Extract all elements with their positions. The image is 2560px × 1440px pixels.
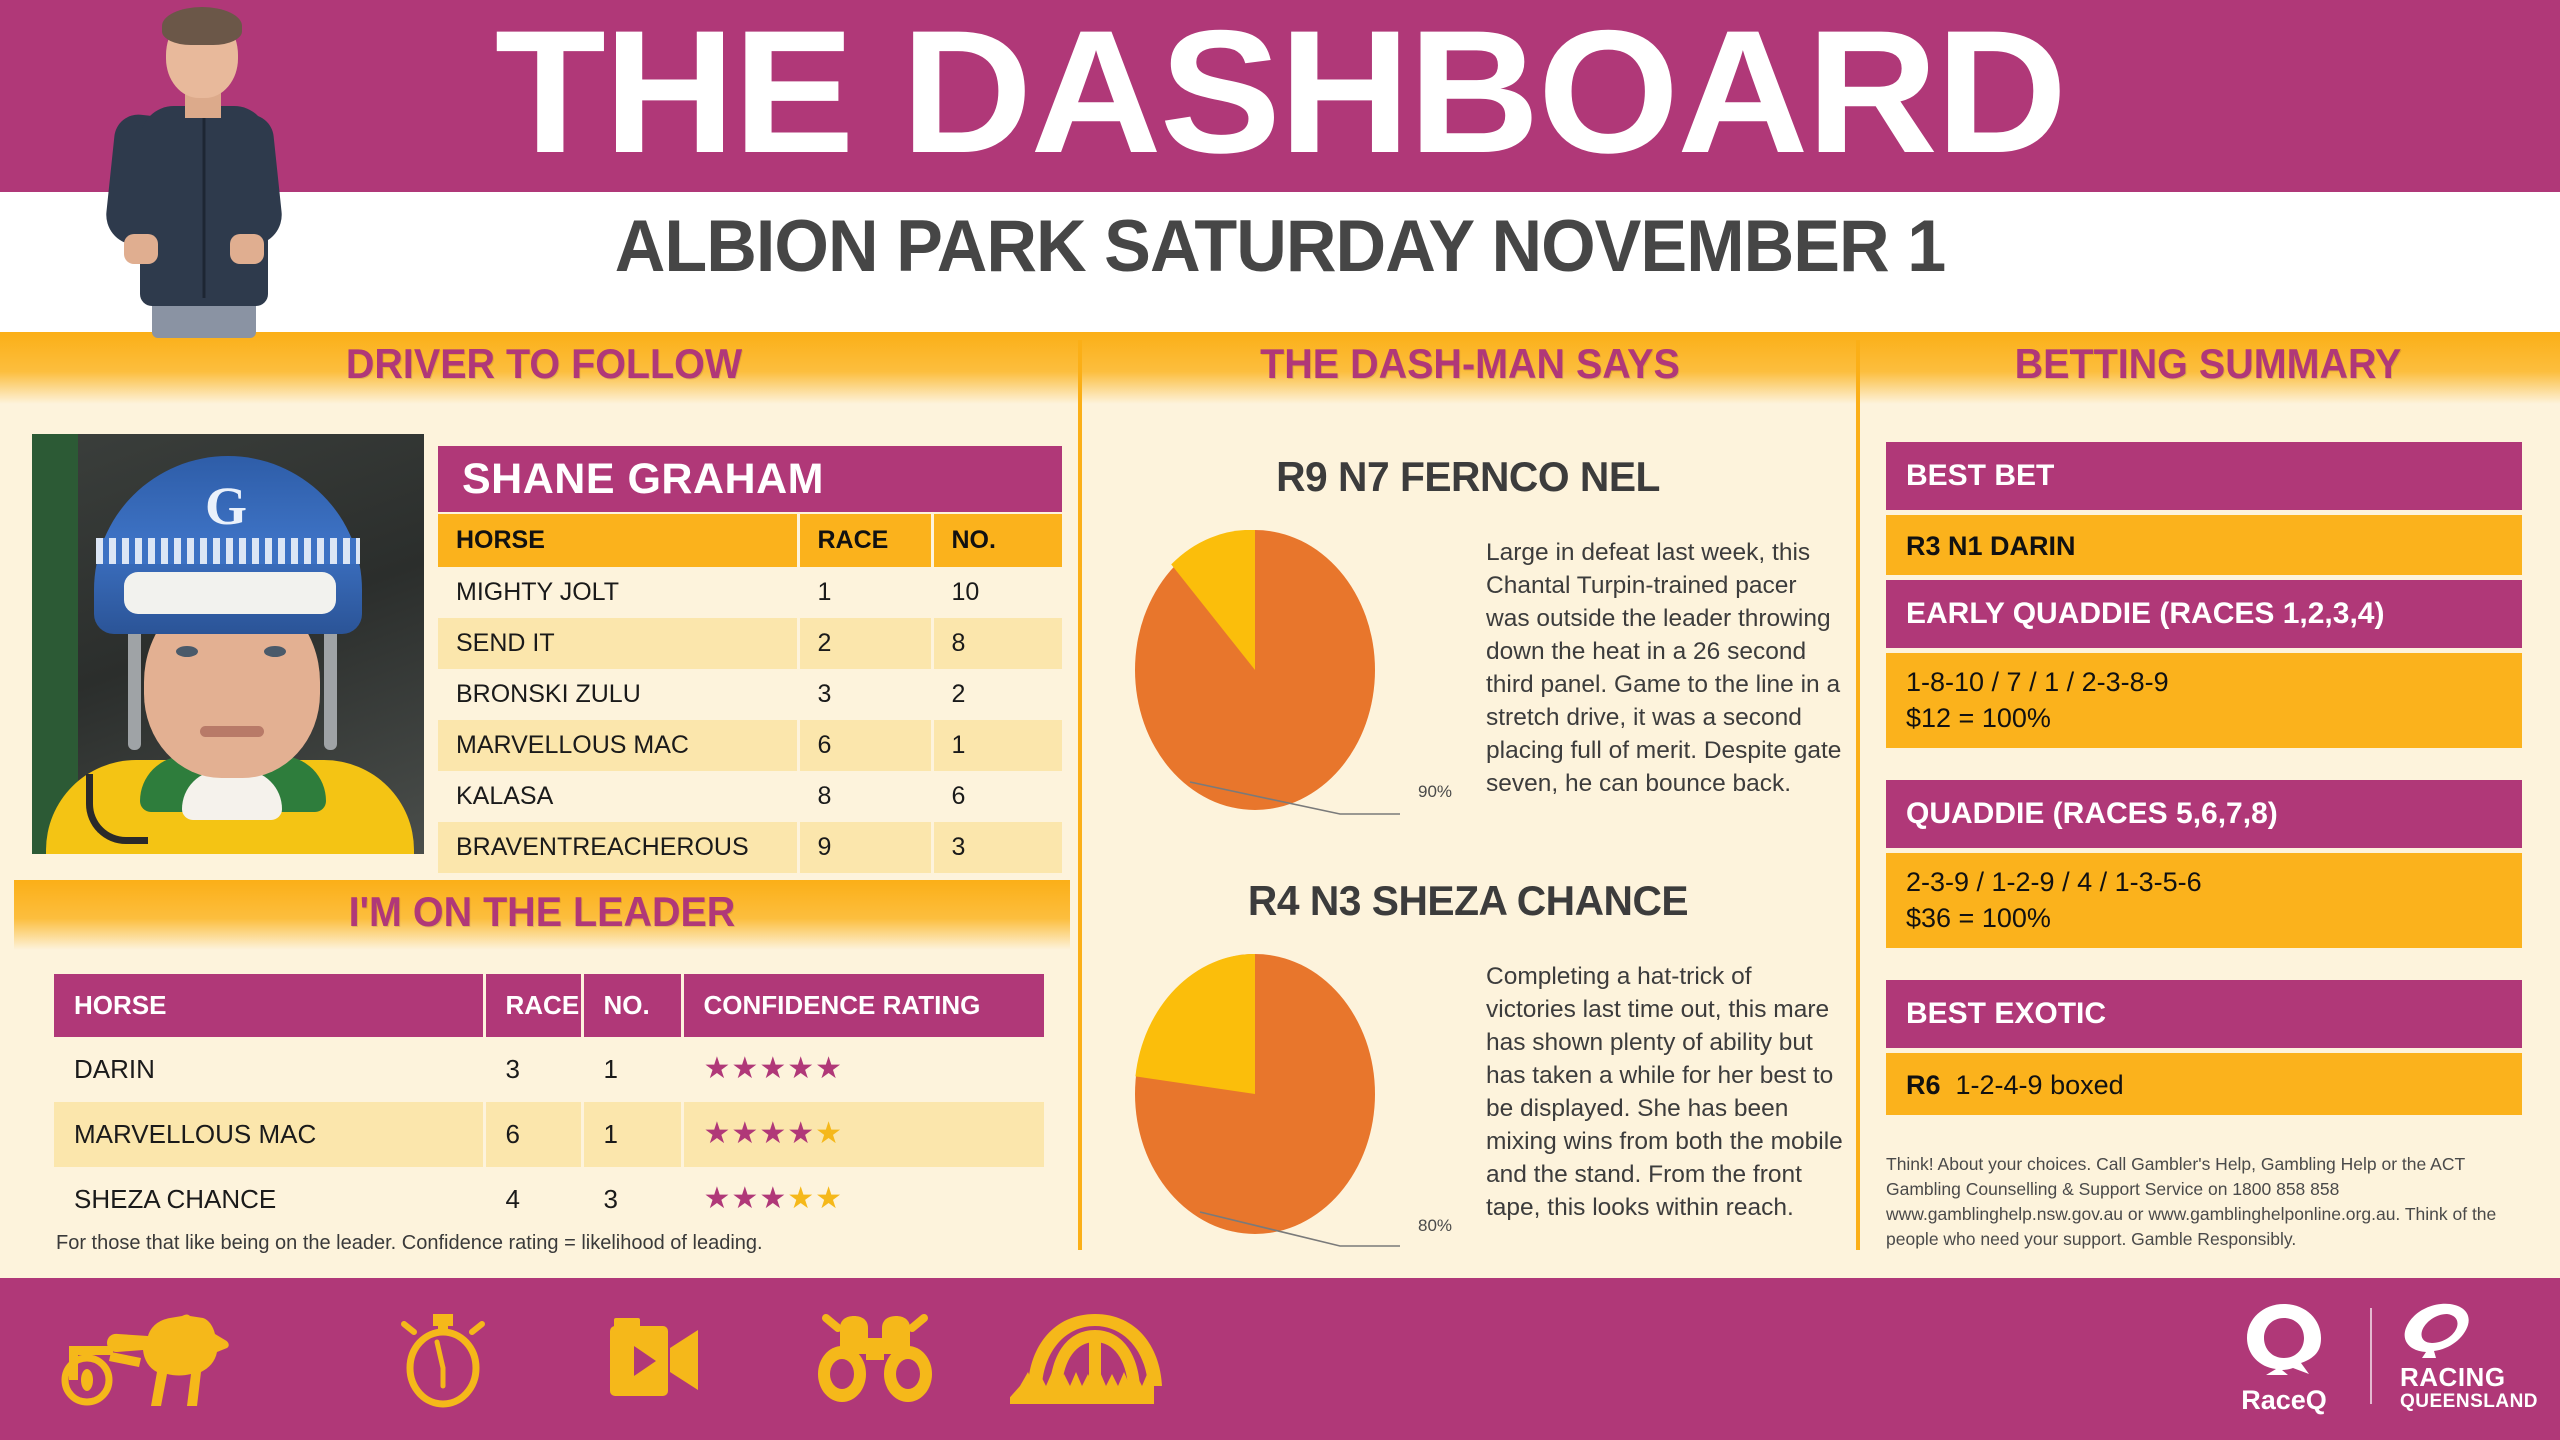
early-quaddie-value: 1-8-10 / 7 / 1 / 2-3-8-9 $12 = 100% bbox=[1886, 653, 2522, 748]
queensland-text: QUEENSLAND bbox=[2400, 1391, 2530, 1413]
early-quaddie-line2: $12 = 100% bbox=[1906, 700, 2522, 736]
cell-horse: BRAVENTREACHEROUS bbox=[438, 822, 798, 873]
column-header-race: RACE bbox=[484, 974, 582, 1037]
best-exotic-value: R6 1-2-4-9 boxed bbox=[1886, 1053, 2522, 1115]
early-quaddie-header: EARLY QUADDIE (RACES 1,2,3,4) bbox=[1886, 580, 2522, 648]
cell-race: 4 bbox=[484, 1167, 582, 1232]
best-bet-header: BEST BET bbox=[1886, 442, 2522, 510]
table-row: BRONSKI ZULU 3 2 bbox=[438, 669, 1062, 720]
pie-chart-2: 80% bbox=[1100, 954, 1450, 1254]
table-row: SHEZA CHANCE 4 3 ★★★★★ bbox=[54, 1167, 1044, 1232]
cell-no: 6 bbox=[932, 771, 1062, 822]
quaddie-value: 2-3-9 / 1-2-9 / 4 / 1-3-5-6 $36 = 100% bbox=[1886, 853, 2522, 948]
driver-name-bar: SHANE GRAHAM bbox=[438, 446, 1062, 512]
table-row: MARVELLOUS MAC 6 1 ★★★★★ bbox=[54, 1102, 1044, 1167]
cell-no: 3 bbox=[932, 822, 1062, 873]
column-divider-left bbox=[1078, 340, 1082, 1250]
binoculars-icon bbox=[790, 1312, 960, 1408]
cell-no: 10 bbox=[932, 567, 1062, 618]
section-title-betting-summary: BETTING SUMMARY bbox=[1888, 336, 2527, 392]
cell-race: 1 bbox=[798, 567, 932, 618]
table-row: BRAVENTREACHEROUS 9 3 bbox=[438, 822, 1062, 873]
dash-man-title: R9 N7 FERNCO NEL bbox=[1101, 452, 1834, 502]
star-rating: ★★★★★ bbox=[704, 1117, 844, 1150]
cell-no: 3 bbox=[582, 1167, 682, 1232]
quaddie-line1: 2-3-9 / 1-2-9 / 4 / 1-3-5-6 bbox=[1906, 864, 2522, 900]
best-bet-value: R3 N1 DARIN bbox=[1886, 515, 2522, 575]
leader-table: HORSE RACE NO. CONFIDENCE RATING DARIN 3… bbox=[54, 974, 1044, 1232]
pie-chart-1: 90% bbox=[1100, 530, 1450, 830]
column-header-race: RACE bbox=[798, 514, 932, 567]
leader-footnote: For those that like being on the leader.… bbox=[56, 1230, 956, 1256]
racing-queensland-mark-icon bbox=[2400, 1302, 2474, 1358]
pie-chart-svg bbox=[1100, 954, 1450, 1254]
table-row: MIGHTY JOLT 1 10 bbox=[438, 567, 1062, 618]
cell-race: 2 bbox=[798, 618, 932, 669]
cell-no: 1 bbox=[932, 720, 1062, 771]
gambling-disclaimer: Think! About your choices. Call Gambler'… bbox=[1886, 1152, 2522, 1252]
section-title-dash-man-says: THE DASH-MAN SAYS bbox=[1113, 336, 1827, 392]
meeting-subtitle: ALBION PARK SATURDAY NOVEMBER 1 bbox=[51, 205, 2509, 289]
cell-race: 3 bbox=[484, 1037, 582, 1102]
column-header-no: NO. bbox=[582, 974, 682, 1037]
driver-portrait: G bbox=[32, 434, 424, 854]
table-header-row: HORSE RACE NO. CONFIDENCE RATING bbox=[54, 974, 1044, 1037]
cell-horse: MIGHTY JOLT bbox=[438, 567, 798, 618]
cell-race: 6 bbox=[798, 720, 932, 771]
best-exotic-race: R6 bbox=[1906, 1070, 1941, 1100]
table-row: MARVELLOUS MAC 6 1 bbox=[438, 720, 1062, 771]
cell-horse: MARVELLOUS MAC bbox=[54, 1102, 484, 1167]
raceq-logo-text: RaceQ bbox=[2218, 1385, 2350, 1415]
cell-horse: MARVELLOUS MAC bbox=[438, 720, 798, 771]
cell-no: 1 bbox=[582, 1037, 682, 1102]
cell-no: 8 bbox=[932, 618, 1062, 669]
cell-horse: KALASA bbox=[438, 771, 798, 822]
quaddie-header: QUADDIE (RACES 5,6,7,8) bbox=[1886, 780, 2522, 848]
table-row: SEND IT 2 8 bbox=[438, 618, 1062, 669]
page-header: THE DASHBOARD ALBION PARK SATURDAY NOVEM… bbox=[0, 0, 2560, 332]
column-header-confidence-rating: CONFIDENCE RATING bbox=[682, 974, 1044, 1037]
cell-horse: SHEZA CHANCE bbox=[54, 1167, 484, 1232]
dash-man-text: Large in defeat last week, this Chantal … bbox=[1486, 536, 1846, 800]
video-camera-icon bbox=[580, 1312, 740, 1408]
dash-man-block-2: R4 N3 SHEZA CHANCE 80% Completing a hat-… bbox=[1090, 876, 1846, 1254]
driver-horses-table: HORSE RACE NO. MIGHTY JOLT 1 10 SEND IT … bbox=[438, 514, 1062, 873]
harness-horse-icon bbox=[48, 1312, 278, 1408]
driver-name: SHANE GRAHAM bbox=[462, 455, 824, 504]
early-quaddie-line1: 1-8-10 / 7 / 1 / 2-3-8-9 bbox=[1906, 664, 2522, 700]
cell-no: 1 bbox=[582, 1102, 682, 1167]
best-exotic-selection: 1-2-4-9 boxed bbox=[1956, 1070, 2124, 1100]
cell-no: 2 bbox=[932, 669, 1062, 720]
cell-race: 9 bbox=[798, 822, 932, 873]
pie-chart-svg bbox=[1100, 530, 1450, 830]
page-title: THE DASHBOARD bbox=[0, 2, 2560, 184]
table-row: KALASA 8 6 bbox=[438, 771, 1062, 822]
presenter-photo bbox=[78, 6, 308, 332]
footer-logos: RaceQ RACING QUEENSLAND bbox=[2218, 1302, 2518, 1418]
column-divider-right bbox=[1856, 340, 1860, 1250]
stopwatch-icon bbox=[368, 1312, 518, 1408]
best-exotic-header: BEST EXOTIC bbox=[1886, 980, 2522, 1048]
quaddie-line2: $36 = 100% bbox=[1906, 900, 2522, 936]
grandstand-icon bbox=[1000, 1312, 1190, 1408]
racing-text: RACING bbox=[2400, 1363, 2530, 1391]
cell-race: 8 bbox=[798, 771, 932, 822]
dash-man-title: R4 N3 SHEZA CHANCE bbox=[1101, 876, 1834, 926]
star-rating: ★★★★★ bbox=[704, 1052, 844, 1085]
cell-confidence: ★★★★★ bbox=[682, 1102, 1044, 1167]
logo-separator bbox=[2370, 1308, 2372, 1404]
column-header-no: NO. bbox=[932, 514, 1062, 567]
pie-label-2: 80% bbox=[1418, 1216, 1452, 1236]
dash-man-block-1: R9 N7 FERNCO NEL 90% Large in defeat las… bbox=[1090, 452, 1846, 830]
cell-horse: SEND IT bbox=[438, 618, 798, 669]
pie-label-1: 90% bbox=[1418, 782, 1452, 802]
section-title-im-on-the-leader: I'M ON THE LEADER bbox=[46, 884, 1039, 940]
cell-confidence: ★★★★★ bbox=[682, 1167, 1044, 1232]
star-rating: ★★★★★ bbox=[704, 1182, 844, 1215]
section-title-driver-to-follow: DRIVER TO FOLLOW bbox=[46, 336, 1042, 392]
dash-man-text: Completing a hat-trick of victories last… bbox=[1486, 960, 1846, 1224]
cell-confidence: ★★★★★ bbox=[682, 1037, 1044, 1102]
raceq-mark-icon bbox=[2241, 1302, 2327, 1376]
cell-race: 6 bbox=[484, 1102, 582, 1167]
cell-race: 3 bbox=[798, 669, 932, 720]
raceq-logo: RaceQ bbox=[2218, 1302, 2350, 1415]
cell-horse: DARIN bbox=[54, 1037, 484, 1102]
racing-queensland-logo: RACING QUEENSLAND bbox=[2400, 1302, 2530, 1413]
table-row: DARIN 3 1 ★★★★★ bbox=[54, 1037, 1044, 1102]
column-header-horse: HORSE bbox=[54, 974, 484, 1037]
column-header-horse: HORSE bbox=[438, 514, 798, 567]
cell-horse: BRONSKI ZULU bbox=[438, 669, 798, 720]
table-header-row: HORSE RACE NO. bbox=[438, 514, 1062, 567]
